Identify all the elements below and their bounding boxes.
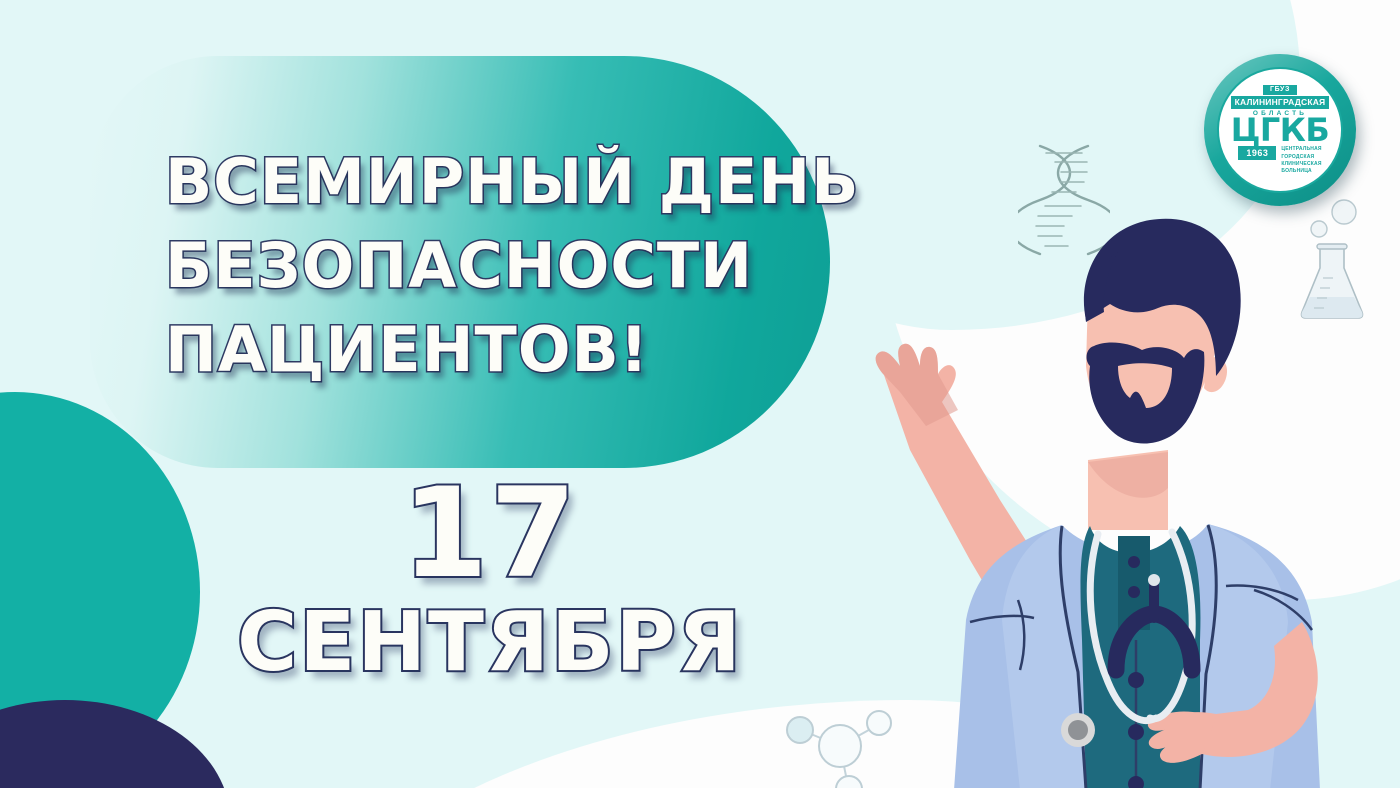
logo-inner-disc: ГБУЗ КАЛИНИНГРАДСКАЯ ОБЛАСТЬ ЦГКБ 1963 Ц… (1217, 67, 1343, 193)
logo-abbreviation: ЦГКБ (1231, 116, 1330, 145)
logo-full-name-line2: ГОРОДСКАЯ (1281, 154, 1321, 161)
headline-line-2: БЕЗОПАСНОСТИ (165, 232, 865, 300)
page-title: ВСЕМИРНЫЙ ДЕНЬ БЕЗОПАСНОСТИ ПАЦИЕНТОВ! (165, 148, 865, 401)
navy-blob-corner (0, 700, 230, 788)
logo-full-name-line4: БОЛЬНИЦА (1281, 168, 1321, 175)
erlenmeyer-flask-icon (1292, 196, 1372, 327)
logo-year: 1963 (1238, 146, 1276, 160)
headline-line-3: ПАЦИЕНТОВ! (165, 316, 865, 384)
logo-org-type: ГБУЗ (1263, 85, 1297, 96)
logo-full-name-line3: КЛИНИЧЕСКАЯ (1281, 161, 1321, 168)
event-date: 17 СЕНТЯБРЯ (170, 472, 810, 684)
logo-bottom-row: 1963 ЦЕНТРАЛЬНАЯ ГОРОДСКАЯ КЛИНИЧЕСКАЯ Б… (1238, 146, 1321, 175)
hospital-logo: ГБУЗ КАЛИНИНГРАДСКАЯ ОБЛАСТЬ ЦГКБ 1963 Ц… (1204, 54, 1356, 206)
poster-canvas: ВСЕМИРНЫЙ ДЕНЬ БЕЗОПАСНОСТИ ПАЦИЕНТОВ! 1… (0, 0, 1400, 788)
logo-region-line1: КАЛИНИНГРАДСКАЯ (1231, 96, 1330, 109)
headline-line-1: ВСЕМИРНЫЙ ДЕНЬ (165, 148, 865, 216)
molecule-icon (768, 694, 898, 788)
logo-full-name-line1: ЦЕНТРАЛЬНАЯ (1281, 146, 1321, 153)
date-month: СЕНТЯБРЯ (170, 602, 810, 684)
logo-full-name: ЦЕНТРАЛЬНАЯ ГОРОДСКАЯ КЛИНИЧЕСКАЯ БОЛЬНИ… (1281, 146, 1321, 175)
date-day: 17 (170, 472, 810, 596)
